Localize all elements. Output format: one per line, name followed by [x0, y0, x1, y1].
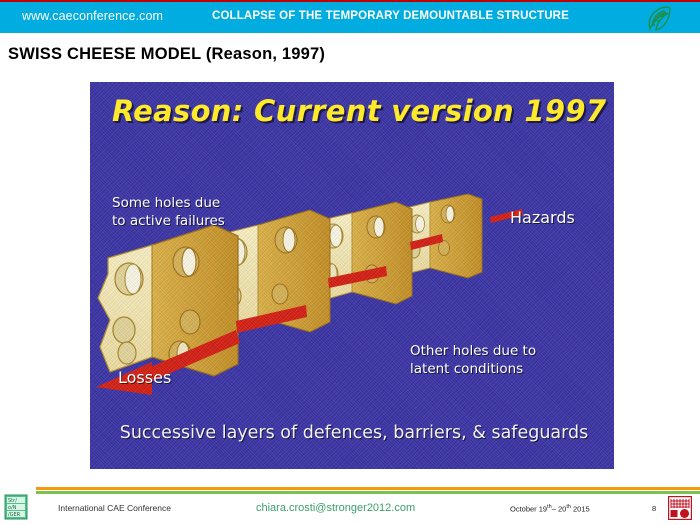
cheese-diagram [90, 82, 614, 469]
stronger-logo-icon: Str/ o/N /GER [4, 494, 28, 520]
svg-text:o/N: o/N [8, 505, 17, 511]
footer-orange-rule [36, 487, 700, 490]
svg-text:/GER: /GER [8, 512, 21, 518]
figure-caption: Successive layers of defences, barriers,… [104, 423, 604, 443]
page-title: SWISS CHEESE MODEL (Reason, 1997) [8, 45, 325, 64]
footer-date-sup2: th [566, 504, 571, 510]
footer-email-link[interactable]: chiara.crosti@stronger2012.com [256, 502, 415, 514]
label-latent-conditions: Other holes due to latent conditions [410, 342, 536, 378]
figure-headline: Reason: Current version 1997 [112, 94, 606, 128]
conference-red-logo-icon [668, 496, 692, 520]
header-bar: www.caeconference.com COLLAPSE OF THE TE… [0, 2, 700, 33]
footer-date-month: October 19 [510, 505, 547, 514]
footer-conference-name: International CAE Conference [58, 503, 171, 513]
header-website-url[interactable]: www.caeconference.com [22, 9, 163, 23]
footer-date-year: 2015 [573, 505, 590, 514]
label-active-failures: Some holes due to active failures [112, 194, 225, 230]
svg-text:Str/: Str/ [8, 498, 17, 504]
slide-root: www.caeconference.com COLLAPSE OF THE TE… [0, 0, 700, 525]
label-latent-line1: Other holes due to [410, 343, 536, 359]
cae-leaf-logo-icon [640, 4, 680, 33]
footer-date-mid: – 20 [552, 505, 567, 514]
label-hazards: Hazards [510, 207, 575, 229]
label-active-failures-line1: Some holes due [112, 195, 220, 211]
label-latent-line2: latent conditions [410, 361, 523, 377]
label-losses: Losses [118, 367, 171, 389]
footer-green-rule [36, 491, 700, 494]
header-presentation-title: COLLAPSE OF THE TEMPORARY DEMOUNTABLE ST… [212, 10, 569, 22]
cheese-slice-1 [98, 225, 238, 376]
footer-date: October 19th– 20th 2015 [510, 504, 590, 514]
label-active-failures-line2: to active failures [112, 213, 225, 229]
footer-page-number: 8 [652, 504, 656, 513]
swiss-cheese-figure: Reason: Current version 1997 Some holes … [90, 82, 614, 469]
